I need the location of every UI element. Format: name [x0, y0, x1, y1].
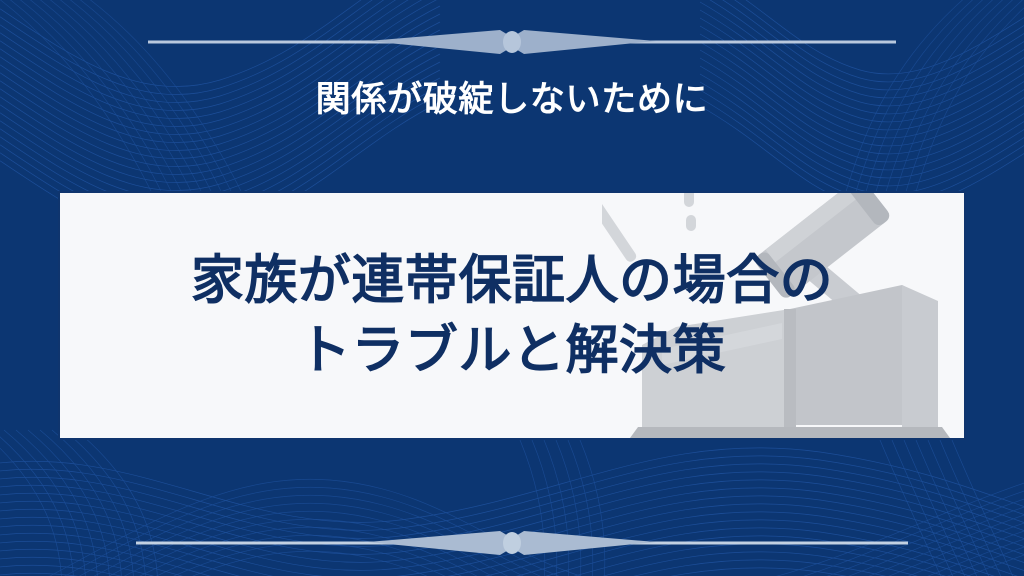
divider-bottom	[0, 523, 1024, 563]
title-slide: 関係が破綻しないために	[0, 0, 1024, 576]
headline-line-1: 家族が連帯保証人の場合の	[191, 247, 833, 315]
subtitle-text: 関係が破綻しないために	[0, 79, 1024, 123]
divider-top	[0, 22, 1024, 62]
title-panel: 家族が連帯保証人の場合の トラブルと解決策	[58, 191, 966, 440]
headline-line-2: トラブルと解決策	[298, 317, 726, 385]
headline: 家族が連帯保証人の場合の トラブルと解決策	[60, 193, 964, 438]
